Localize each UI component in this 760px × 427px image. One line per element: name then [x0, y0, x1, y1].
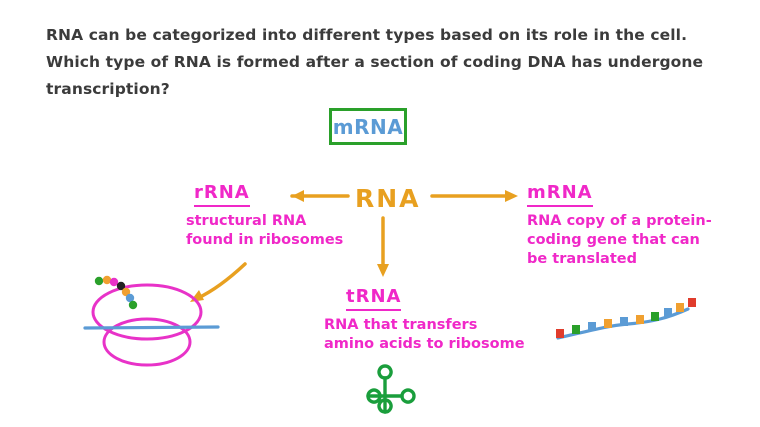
- branch-mrna-desc-line3: be translated: [527, 250, 727, 269]
- branch-rrna: rRNA structural RNA found in ribosomes: [186, 182, 346, 250]
- answer-box[interactable]: mRNA: [329, 108, 407, 145]
- branch-mrna-description: RNA copy of a protein- coding gene that …: [527, 212, 727, 269]
- ribosome-illustration: [85, 276, 218, 365]
- branch-trna-desc-line2: amino acids to ribosome: [324, 335, 534, 354]
- worksheet-canvas: RNA can be categorized into different ty…: [0, 0, 760, 427]
- diagram-center-node-rna: RNA: [355, 184, 421, 213]
- arrow-rna-to-mrna: [432, 190, 518, 202]
- branch-trna-desc-line1: RNA that transfers: [324, 316, 534, 335]
- branch-trna-description: RNA that transfers amino acids to riboso…: [324, 316, 534, 354]
- answer-box-value: mRNA: [333, 115, 403, 139]
- branch-rrna-description: structural RNA found in ribosomes: [186, 212, 346, 250]
- branch-rrna-desc-line1: structural RNA: [186, 212, 346, 231]
- question-text: RNA can be categorized into different ty…: [46, 22, 736, 103]
- trna-cloverleaf-illustration: [368, 366, 414, 412]
- branch-trna-title: tRNA: [346, 286, 401, 311]
- arrow-rrna-to-ribosome: [190, 264, 245, 302]
- arrow-ribosome-pointer: [196, 272, 230, 299]
- branch-mrna-desc-line1: RNA copy of a protein-: [527, 212, 727, 231]
- branch-mrna-desc-line2: coding gene that can: [527, 231, 727, 250]
- branch-rrna-title: rRNA: [194, 182, 250, 207]
- arrow-rna-to-trna: [377, 218, 389, 277]
- mrna-strand-illustration: [556, 298, 696, 338]
- branch-rrna-desc-line2: found in ribosomes: [186, 231, 346, 250]
- branch-mrna-title: mRNA: [527, 182, 593, 207]
- branch-mrna: mRNA RNA copy of a protein- coding gene …: [527, 182, 727, 269]
- branch-trna: tRNA RNA that transfers amino acids to r…: [324, 286, 534, 354]
